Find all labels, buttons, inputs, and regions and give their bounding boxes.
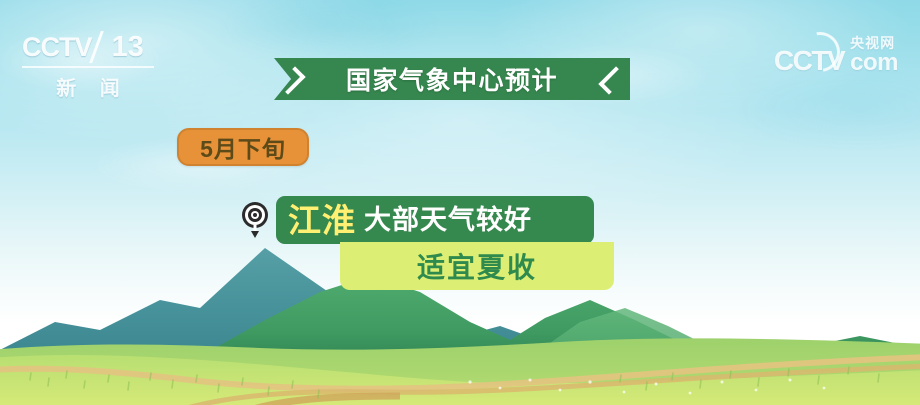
date-tag: 5月下旬 [177, 128, 309, 166]
forecast-main-line: 江淮 大部天气较好 [276, 196, 594, 244]
banner-title: 国家气象中心预计 [274, 58, 630, 100]
forecast-region: 江淮 [288, 204, 356, 237]
broadcast-screenshot: CCTV 13 新 闻 CCTV 央视网 com 国家气象中心预计 5月下旬 [0, 0, 920, 405]
header-banner: 国家气象中心预计 [274, 58, 630, 100]
forecast-subline: 适宜夏收 [340, 242, 614, 290]
forecast-description: 大部天气较好 [364, 207, 532, 234]
location-pin-icon [240, 200, 270, 240]
